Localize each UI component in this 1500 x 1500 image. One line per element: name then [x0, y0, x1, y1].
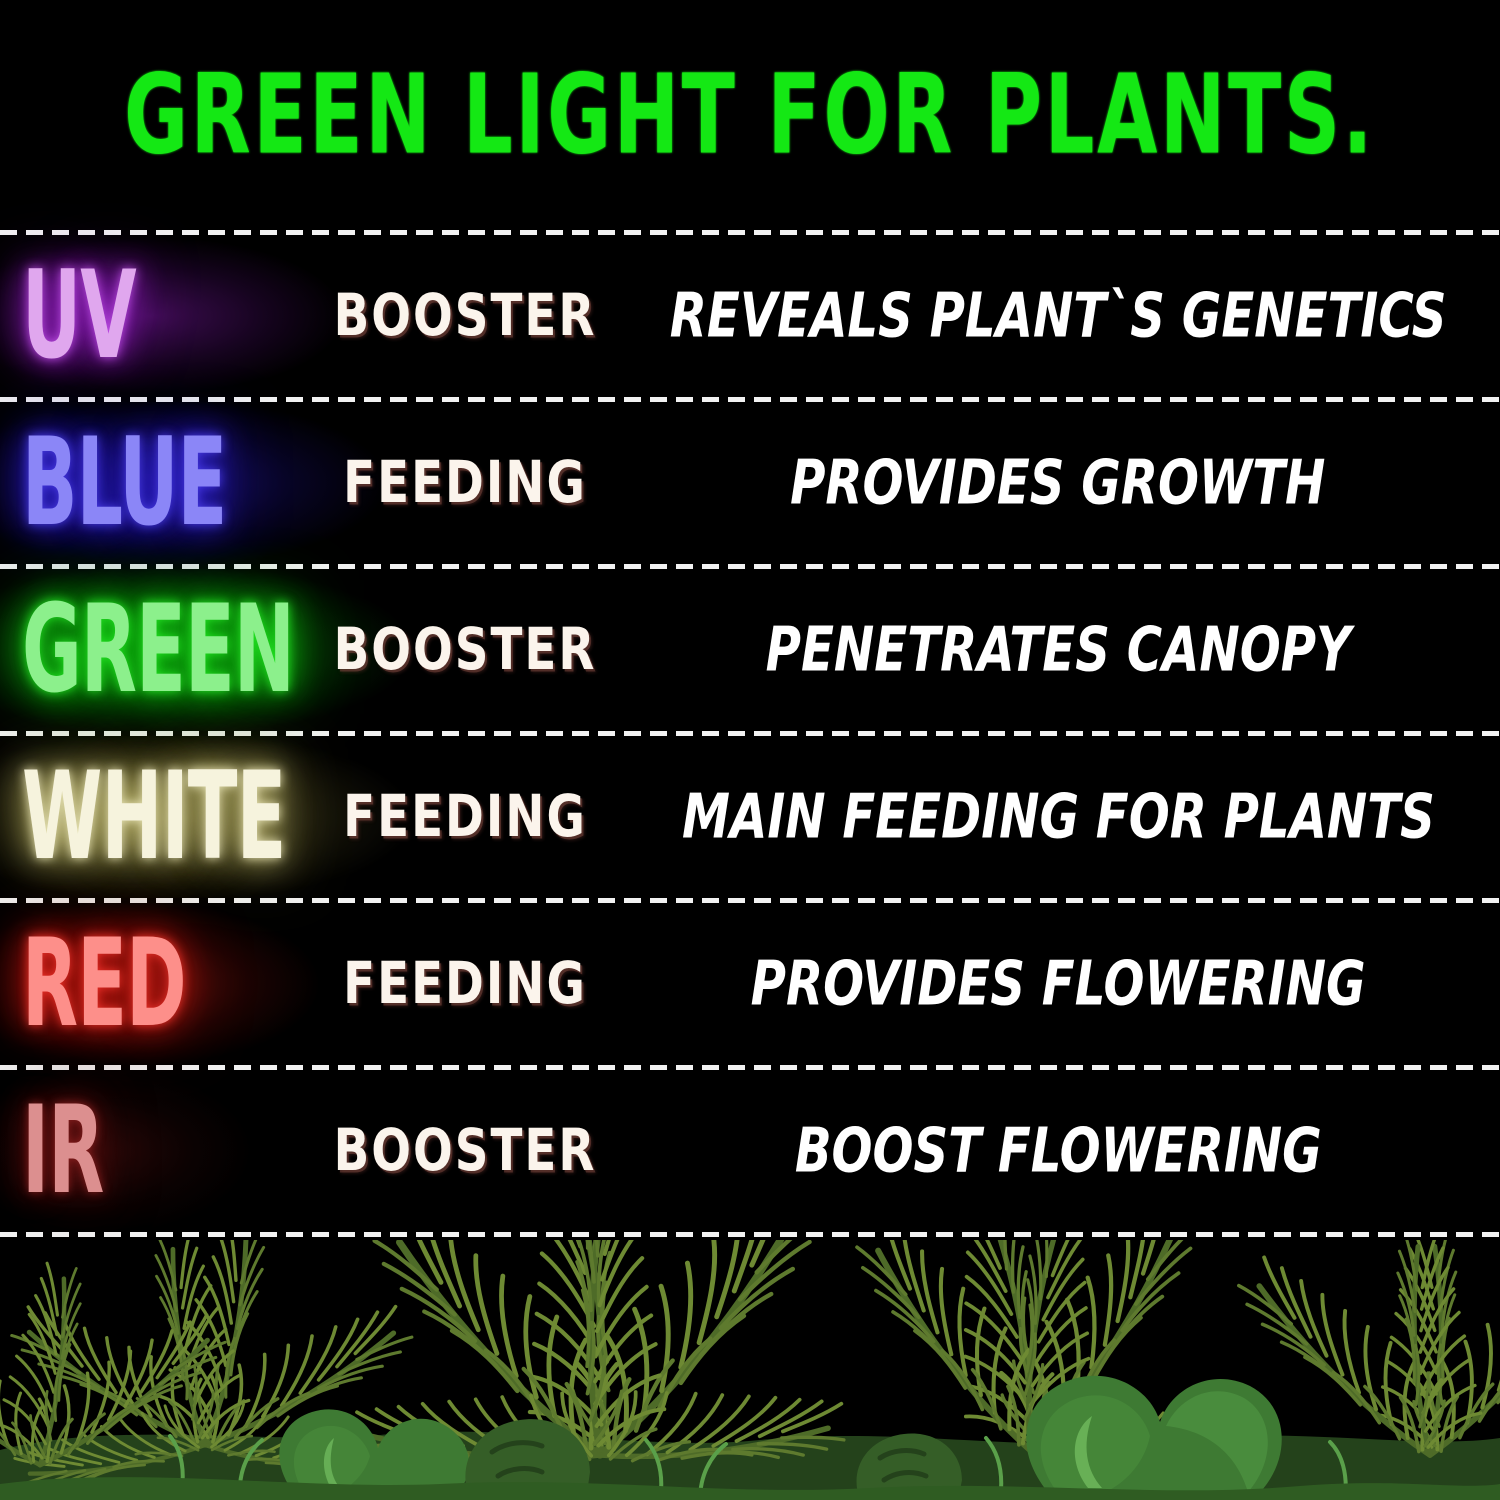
table-row[interactable]: RED FEEDING PROVIDES FLOWERING — [0, 903, 1500, 1065]
role-cell: BOOSTER — [300, 286, 630, 346]
table-row[interactable]: UV BOOSTER REVEALS PLANT`S GENETICS — [0, 235, 1500, 397]
spectrum-cell: IR — [0, 1105, 300, 1197]
role-cell: BOOSTER — [300, 1121, 630, 1181]
table-row[interactable]: WHITE FEEDING MAIN FEEDING FOR PLANTS — [0, 736, 1500, 898]
spectrum-cell: UV — [0, 270, 300, 362]
role-cell: FEEDING — [300, 453, 630, 513]
spectrum-label-ir: IR — [22, 1090, 103, 1211]
spectrum-label-uv: UV — [22, 255, 136, 376]
effect-label: MAIN FEEDING FOR PLANTS — [682, 781, 1435, 852]
role-cell: FEEDING — [300, 787, 630, 847]
role-label: FEEDING — [343, 783, 587, 850]
role-label: BOOSTER — [334, 282, 597, 349]
table-row[interactable]: BLUE FEEDING PROVIDES GROWTH — [0, 402, 1500, 564]
effect-cell: PROVIDES GROWTH — [630, 450, 1500, 516]
tropical-foliage-illustration — [0, 1240, 1500, 1500]
role-label: BOOSTER — [334, 616, 597, 683]
spectrum-label-red: RED — [22, 923, 186, 1044]
foliage-svg — [0, 1240, 1500, 1500]
effect-cell: MAIN FEEDING FOR PLANTS — [630, 784, 1500, 850]
spectrum-label-green: GREEN — [22, 589, 294, 710]
role-cell: BOOSTER — [300, 620, 630, 680]
effect-label: PROVIDES GROWTH — [790, 447, 1325, 518]
infographic-poster: GREEN LIGHT FOR PLANTS. UV BOOSTER REVEA… — [0, 0, 1500, 1500]
spectrum-cell: BLUE — [0, 437, 300, 529]
role-cell: FEEDING — [300, 954, 630, 1014]
title-bar: GREEN LIGHT FOR PLANTS. — [0, 0, 1500, 230]
role-label: FEEDING — [343, 449, 587, 516]
table-row[interactable]: GREEN BOOSTER PENETRATES CANOPY — [0, 569, 1500, 731]
effect-label: BOOST FLOWERING — [795, 1115, 1322, 1186]
effect-cell: PROVIDES FLOWERING — [630, 951, 1500, 1017]
role-label: BOOSTER — [334, 1117, 597, 1184]
page-title: GREEN LIGHT FOR PLANTS. — [124, 60, 1375, 170]
effect-cell: PENETRATES CANOPY — [630, 617, 1500, 683]
spectrum-label-blue: BLUE — [22, 422, 226, 543]
role-label: FEEDING — [343, 950, 587, 1017]
spectrum-cell: GREEN — [0, 604, 300, 696]
spectrum-cell: RED — [0, 938, 300, 1030]
heart-leaf-cluster-right — [1026, 1376, 1281, 1500]
table-row[interactable]: IR BOOSTER BOOST FLOWERING — [0, 1070, 1500, 1232]
effect-label: PROVIDES FLOWERING — [751, 948, 1366, 1019]
row-divider — [0, 1232, 1500, 1237]
effect-cell: BOOST FLOWERING — [630, 1118, 1500, 1184]
spectrum-cell: WHITE — [0, 771, 300, 863]
spectrum-label-white: WHITE — [22, 756, 285, 877]
effect-label: PENETRATES CANOPY — [765, 614, 1350, 685]
effect-cell: REVEALS PLANT`S GENETICS — [630, 283, 1500, 349]
effect-label: REVEALS PLANT`S GENETICS — [670, 280, 1447, 351]
spectrum-table: UV BOOSTER REVEALS PLANT`S GENETICS BLUE… — [0, 230, 1500, 1237]
